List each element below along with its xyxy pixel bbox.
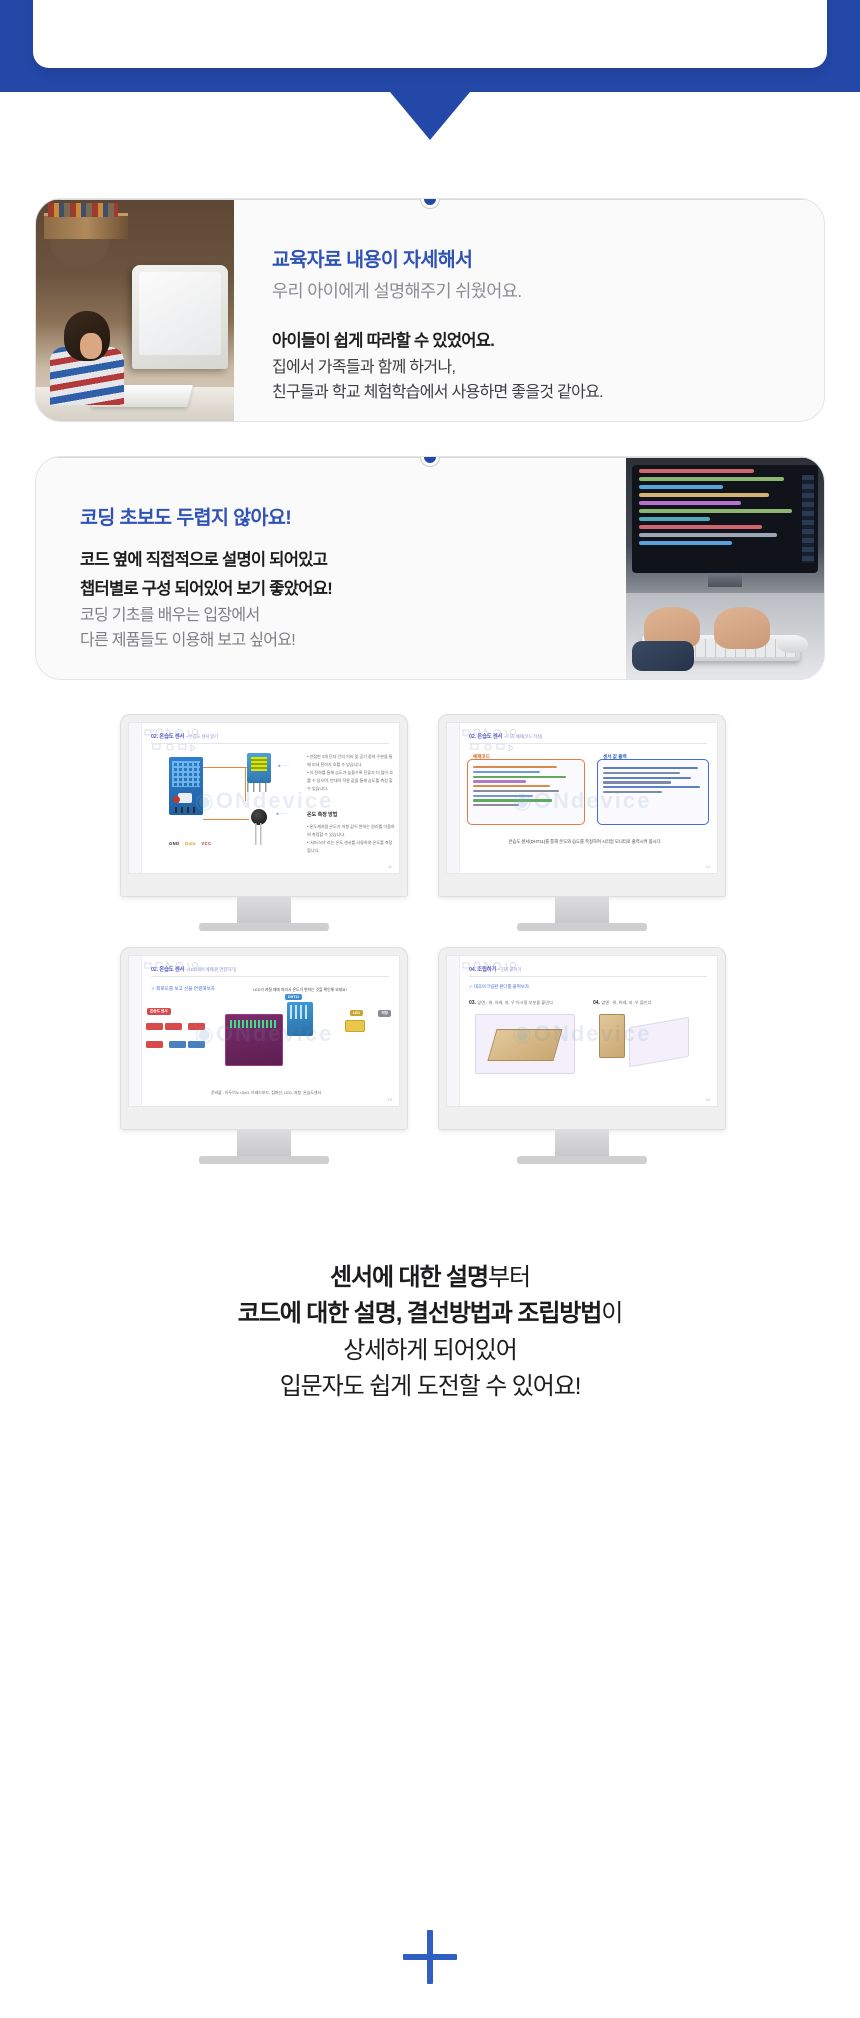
monitor-2: 02. 온습도 센서 – 기초 예제(코드 작성) 예제코드 — [438, 714, 726, 931]
closing-line-2: 코드에 대한 설명, 결선방법과 조립방법이 — [0, 1296, 860, 1332]
testimonials-section: 교육자료 내용이 자세해서 우리 아이에게 설명해주기 쉬웠어요. 아이들이 쉽… — [0, 92, 860, 680]
monitor-1-screen: 02. 온습도 센서 – 온습도 센서 알기 — [128, 722, 400, 874]
chip-label-resistor: 저항 — [378, 1010, 391, 1017]
testimonial-card-1: 교육자료 내용이 자세해서 우리 아이에게 설명해주기 쉬웠어요. 아이들이 쉽… — [35, 198, 825, 422]
testimonial-2-line-1: 코딩 기초를 배우는 입장에서 — [80, 604, 626, 629]
testimonial-2-strong-2: 챕터별로 구성 되어있어 보기 좋았어요! — [80, 575, 626, 599]
testimonial-2-headline: 코딩 초보도 두렵지 않아요! — [80, 501, 626, 530]
testimonial-2-text: 코딩 초보도 두렵지 않아요! 코드 옆에 직접적으로 설명이 되어있고 챕터별… — [36, 457, 626, 679]
banner-pointer-triangle — [390, 92, 470, 140]
chip-label-dht11: DHT11 — [285, 994, 302, 1000]
sensor-chip-graphic — [247, 753, 271, 783]
testimonial-card-2: 코딩 초보도 두렵지 않아요! 코드 옆에 직접적으로 설명이 되어있고 챕터별… — [35, 456, 825, 680]
testimonial-1-subline: 우리 아이에게 설명해주기 쉬웠어요. — [272, 278, 824, 303]
slide-2-title: 02. 온습도 센서 – 기초 예제(코드 작성) — [469, 732, 709, 740]
testimonial-1-headline: 교육자료 내용이 자세해서 — [272, 243, 824, 272]
section-divider — [0, 1930, 860, 1984]
slide-1-page-number: 11 — [388, 864, 392, 869]
slide-3-page-number: 13 — [388, 1097, 392, 1102]
top-blue-banner — [0, 0, 860, 92]
testimonial-1-line-2: 친구들과 학교 체험학습에서 사용하면 좋을것 같아요. — [272, 381, 824, 406]
slide-3-note: 준비물 : 아두이노 UNO, 브레드보드, 점퍼선, LED, 저항, 온습도… — [143, 1090, 389, 1096]
banner-white-card — [33, 0, 827, 68]
monitor-4-screen: 04. 조립하기 – 힌지 붙이기 ✓ 대조아크릴판 판다를 붙여보자 03. … — [446, 955, 718, 1107]
slide-2-page-number: 12 — [706, 864, 710, 869]
testimonial-2-line-2: 다른 제품들도 이용해 보고 싶어요! — [80, 629, 626, 654]
testimonial-1-line-1: 집에서 가족들과 함께 하거나, — [272, 356, 824, 381]
monitor-1: 02. 온습도 센서 – 온습도 센서 알기 — [120, 714, 408, 931]
watermark: ◉ONdevice — [513, 1021, 652, 1047]
closing-line-1: 센서에 대한 설명부터 — [0, 1260, 860, 1296]
slide-4-step-2: 04. 앞면 : 위, 아래, 좌, 우 붙인다 — [593, 1000, 652, 1006]
testimonial-1-strong: 아이들이 쉽게 따라할 수 있었어요. — [272, 327, 824, 351]
monitor-2-screen: 02. 온습도 센서 – 기초 예제(코드 작성) 예제코드 — [446, 722, 718, 874]
slide-4-check-line: ✓ 대조아크릴판 판다를 붙여보자 — [469, 984, 529, 990]
chip-label-led: LED — [350, 1010, 363, 1016]
led-resistor-graphic — [345, 1020, 365, 1032]
slide-4-title: 04. 조립하기 – 힌지 붙이기 — [469, 965, 709, 973]
closing-line-3: 상세하게 되어있어 — [0, 1333, 860, 1369]
slide-preview-grid: 02. 온습도 센서 – 온습도 센서 알기 — [120, 714, 740, 1164]
watermark: ◉ONdevice — [195, 1021, 334, 1047]
watermark: ◉ONdevice — [195, 788, 334, 814]
chip-label-sensor: 온습도 센서 — [147, 1008, 171, 1015]
slide-3-check-line: ✓ 회로도를 보고 선을 연결해보자 — [151, 986, 215, 992]
slide-3-callout: LED가 켜질 때에 따라서 온도가 변하는 것을 확인해 보세요! — [253, 988, 347, 993]
monitor-4: 04. 조립하기 – 힌지 붙이기 ✓ 대조아크릴판 판다를 붙여보자 03. … — [438, 947, 726, 1164]
watermark: ◉ONdevice — [513, 788, 652, 814]
plus-icon — [403, 1930, 457, 1984]
slide-1-title: 02. 온습도 센서 – 온습도 센서 알기 — [151, 732, 391, 740]
child-at-computer-photo — [36, 199, 234, 421]
closing-headline: 센서에 대한 설명부터 코드에 대한 설명, 결선방법과 조립방법이 상세하게 … — [0, 1164, 860, 1406]
slide-3-title: 02. 온습도 센서 – LED제어 예제(핀 연결하기) — [151, 965, 391, 973]
slide-4-page-number: 34 — [706, 1097, 710, 1102]
closing-line-4: 입문자도 쉽게 도전할 수 있어요! — [0, 1369, 860, 1405]
slide-2-caption: 온습도 센서(DHT11)를 통해 온도와 습도를 측정하여 시리얼 모니터로 … — [465, 839, 705, 845]
pin-labels: GND Data VCC — [169, 841, 211, 846]
testimonial-2-strong-1: 코드 옆에 직접적으로 설명이 되어있고 — [80, 546, 626, 570]
testimonial-1-text: 교육자료 내용이 자세해서 우리 아이에게 설명해주기 쉬웠어요. 아이들이 쉽… — [234, 199, 824, 421]
monitor-3-screen: 02. 온습도 센서 – LED제어 예제(핀 연결하기) ✓ 회로도를 보고 … — [128, 955, 400, 1107]
monitor-3: 02. 온습도 센서 – LED제어 예제(핀 연결하기) ✓ 회로도를 보고 … — [120, 947, 408, 1164]
slide-4-step-1: 03. 앞면 : 위, 아래, 좌, 우 아크릴 부분을 붙인다 — [469, 1000, 553, 1006]
hands-typing-code-photo — [626, 457, 824, 679]
